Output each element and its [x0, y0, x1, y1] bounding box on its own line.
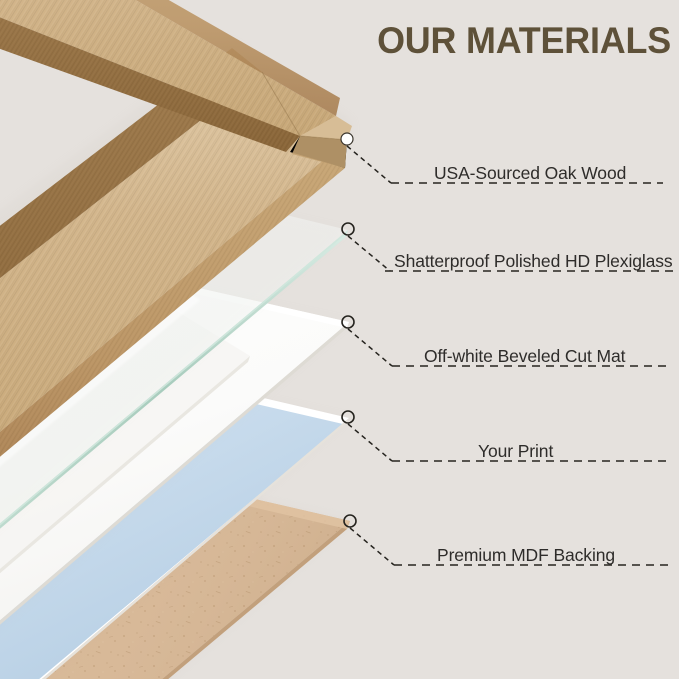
callout-leader-line [348, 236, 390, 271]
callout-label-mat: Off-white Beveled Cut Mat [424, 346, 625, 367]
callout-marker-mdf-backing[interactable] [344, 515, 356, 527]
callout-leader-line [348, 329, 392, 366]
callout-leader-line [348, 424, 392, 461]
callout-leader-line [350, 528, 394, 565]
callout-marker-plexiglass[interactable] [342, 223, 354, 235]
callout-label-print: Your Print [478, 441, 553, 462]
callout-lines-layer [0, 0, 679, 679]
callout-label-mdf-backing: Premium MDF Backing [437, 545, 615, 566]
callout-leader-line [347, 146, 391, 183]
callout-marker-oak-wood[interactable] [341, 133, 353, 145]
callout-marker-mat[interactable] [342, 316, 354, 328]
callout-label-oak-wood: USA-Sourced Oak Wood [434, 163, 626, 184]
infographic-canvas: OUR MATERIALS USA-Sourced Oak WoodShatte… [0, 0, 679, 679]
callout-marker-print[interactable] [342, 411, 354, 423]
callout-label-plexiglass: Shatterproof Polished HD Plexiglass [394, 251, 673, 272]
